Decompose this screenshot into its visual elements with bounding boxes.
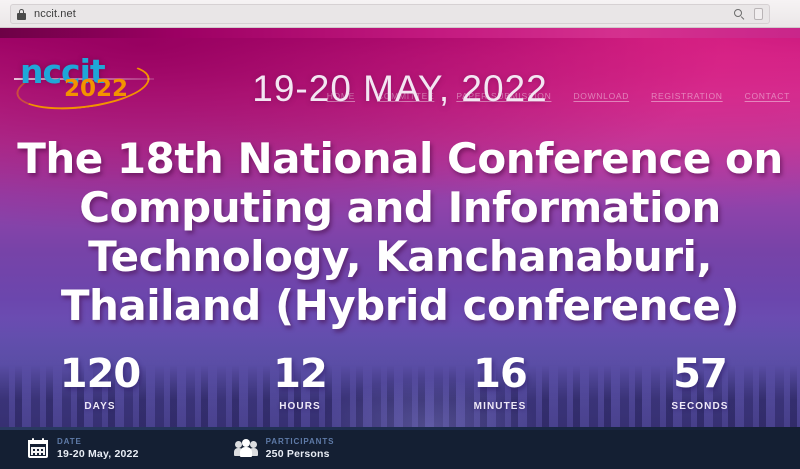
countdown-days: 120 DAYS [0, 353, 200, 427]
countdown-hours-value: 12 [200, 353, 400, 395]
countdown-hours-label: HOURS [200, 401, 400, 412]
hero-section: nccit 2022 HOME COMMITTEE PAPER SUBMISSI… [0, 28, 800, 427]
countdown-minutes-label: MINUTES [400, 401, 600, 412]
info-participants-value: 250 Persons [266, 448, 335, 460]
info-date-text: DATE 19-20 May, 2022 [57, 437, 139, 460]
hero-title: The 18th National Conference on Computin… [0, 134, 800, 330]
hero-top-band [0, 28, 800, 38]
reader-mode-icon[interactable] [754, 8, 763, 20]
countdown-days-label: DAYS [0, 401, 200, 412]
hero-title-line-4: Thailand (Hybrid conference) [0, 281, 800, 330]
countdown-seconds: 57 SECONDS [600, 353, 800, 427]
hero-title-line-1: The 18th National Conference on [0, 134, 800, 183]
info-participants-title: PARTICIPANTS [266, 437, 335, 446]
countdown-seconds-value: 57 [600, 353, 800, 395]
browser-toolbar: nccit.net [0, 0, 800, 28]
info-date-title: DATE [57, 437, 139, 446]
address-bar-actions [734, 8, 763, 20]
lock-icon [17, 9, 26, 20]
countdown-minutes-value: 16 [400, 353, 600, 395]
info-participants-text: PARTICIPANTS 250 Persons [266, 437, 335, 460]
hero-title-line-2: Computing and Information [0, 183, 800, 232]
countdown-days-value: 120 [0, 353, 200, 395]
info-bar: DATE 19-20 May, 2022 PARTICIPANTS 250 Pe… [0, 427, 800, 469]
info-item-date: DATE 19-20 May, 2022 [28, 437, 139, 460]
info-date-value: 19-20 May, 2022 [57, 448, 139, 460]
countdown-minutes: 16 MINUTES [400, 353, 600, 427]
address-bar[interactable]: nccit.net [10, 4, 770, 24]
search-icon[interactable] [734, 9, 745, 20]
hero-title-line-3: Technology, Kanchanaburi, [0, 232, 800, 281]
hero-date: 19-20 MAY, 2022 [0, 68, 800, 110]
people-icon [235, 439, 257, 457]
calendar-icon [28, 438, 48, 458]
countdown-seconds-label: SECONDS [600, 401, 800, 412]
url-text: nccit.net [34, 8, 76, 20]
countdown-timer: 120 DAYS 12 HOURS 16 MINUTES 57 SECONDS [0, 353, 800, 427]
countdown-hours: 12 HOURS [200, 353, 400, 427]
info-item-participants: PARTICIPANTS 250 Persons [235, 437, 335, 460]
